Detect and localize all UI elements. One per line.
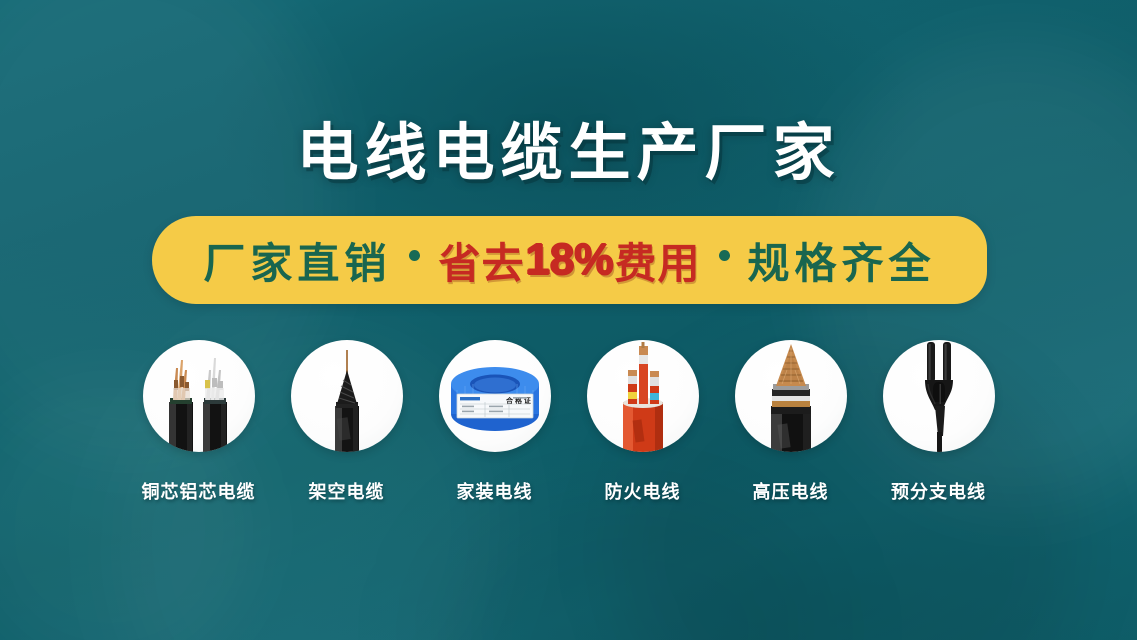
- product-image-circle: [143, 340, 255, 452]
- product-label: 防火电线: [605, 478, 681, 504]
- bullet-dot-left-icon: [409, 250, 420, 261]
- product-label: 预分支电线: [891, 478, 986, 504]
- pre-branch-wire-icon: [883, 340, 995, 452]
- product-image-circle: [735, 340, 847, 452]
- home-wire-coil-icon: 合 格 证: [439, 340, 551, 452]
- product-item-pre-branch-wire[interactable]: 预分支电线: [865, 340, 1013, 504]
- product-item-home-wire-coil[interactable]: 合 格 证 家装电线: [421, 340, 569, 504]
- promo-pill: 厂家直销 省去18%费用 规格齐全: [152, 216, 987, 304]
- product-label: 高压电线: [753, 478, 829, 504]
- product-item-high-voltage-wire[interactable]: 高压电线: [717, 340, 865, 504]
- fireproof-wire-icon: [587, 340, 699, 452]
- product-item-copper-aluminum-cable[interactable]: 铜芯铝芯电缆: [125, 340, 273, 504]
- product-item-overhead-cable[interactable]: 架空电缆: [273, 340, 421, 504]
- product-label: 架空电缆: [309, 478, 385, 504]
- product-image-circle: [883, 340, 995, 452]
- promo-right-text: 规格齐全: [748, 230, 936, 291]
- high-voltage-wire-icon: [735, 340, 847, 452]
- product-label: 铜芯铝芯电缆: [142, 478, 256, 504]
- silk-fold-5: [430, 480, 830, 640]
- product-image-circle: [587, 340, 699, 452]
- promo-left-text: 厂家直销: [203, 230, 391, 291]
- product-image-circle: [291, 340, 403, 452]
- product-list: 铜芯铝芯电缆: [0, 340, 1137, 504]
- bullet-dot-right-icon: [719, 250, 730, 261]
- overhead-cable-icon: [291, 340, 403, 452]
- product-item-fireproof-wire[interactable]: 防火电线: [569, 340, 717, 504]
- promo-banner: 电线电缆生产厂家 厂家直销 省去18%费用 规格齐全: [0, 0, 1137, 640]
- product-label: 家装电线: [457, 478, 533, 504]
- copper-aluminum-cable-icon: [143, 340, 255, 452]
- promo-center-suffix: 费用: [615, 230, 701, 291]
- product-image-circle: 合 格 证: [439, 340, 551, 452]
- page-title: 电线电缆生产厂家: [0, 102, 1137, 192]
- promo-discount-number: 18%: [524, 235, 614, 285]
- promo-center-prefix: 省去: [438, 230, 524, 291]
